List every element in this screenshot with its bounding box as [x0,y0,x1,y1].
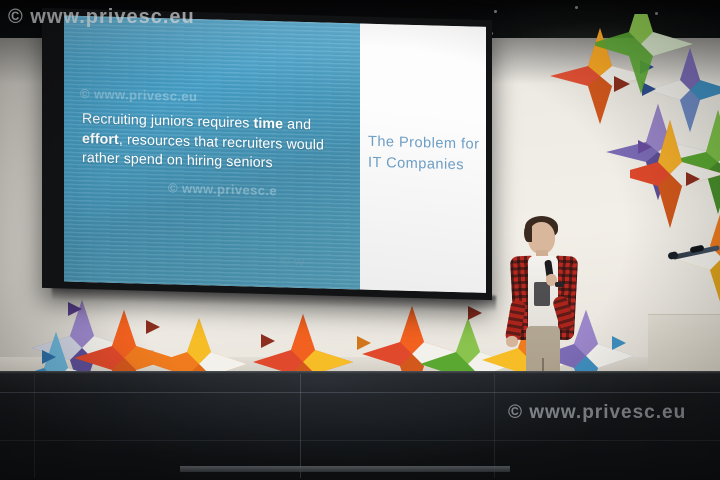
ceiling-light-spot [494,10,497,13]
floor-seam [34,374,35,478]
slide-body-text: Recruiting juniors requires time and eff… [82,110,350,176]
floor-seam [0,440,720,441]
speaker-wristwatch [555,282,564,287]
floor-seam [494,374,495,478]
floor-seam [0,392,720,393]
slide-title: The Problem for IT Companies [368,132,486,177]
photo-scene: © www.privesc.eu © www.privesc.e © w Rec… [0,0,720,480]
floor-seam [300,374,301,478]
slide-surface: © www.privesc.eu © www.privesc.e © w Rec… [64,16,486,293]
wall-right-panel [648,314,720,377]
floor-reflection [0,371,720,480]
slide-watermark-low: © w [280,253,305,269]
slide-body-mid: and [283,116,311,133]
speaker-hair-side [524,224,532,242]
slide-body-bold-effort: effort [82,130,119,147]
speaker-tshirt-print [534,282,550,306]
slide-body-prefix: Recruiting juniors requires [82,111,254,132]
slide-body-bold-time: time [254,116,284,133]
slide-body-suffix: , resources that recruiters would rather… [82,131,324,171]
speaker-left-hand [506,336,518,347]
slide-title-line-2: IT Companies [368,153,486,177]
slide-watermark-top: © www.privesc.eu [80,86,197,104]
slide-watermark-mid: © www.privesc.e [168,180,277,198]
stage-base-rail [180,466,510,472]
projection-screen: © www.privesc.eu © www.privesc.e © w Rec… [42,8,492,300]
ceiling-light-spot [575,6,578,9]
